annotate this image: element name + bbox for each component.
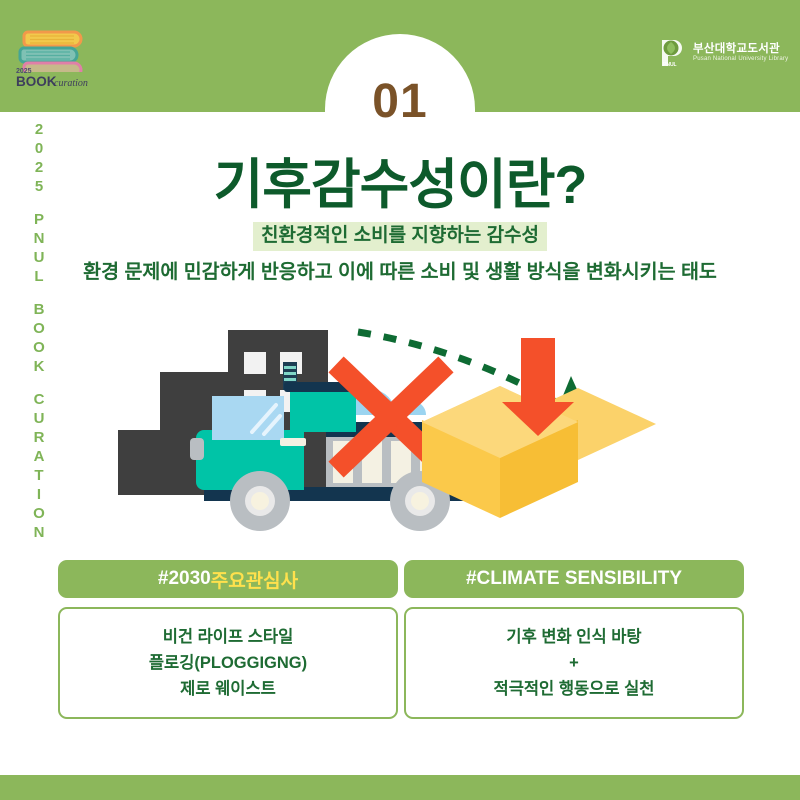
- panel-body: 기후 변화 인식 바탕 + 적극적인 행동으로 실천: [404, 607, 744, 719]
- bottom-green-band: [0, 775, 800, 800]
- logo-word-book: BOOK: [16, 74, 57, 89]
- logo-word-curation: curation: [54, 78, 88, 89]
- svg-text:PNUL: PNUL: [663, 62, 677, 68]
- panel-header: #2030 주요관심사: [58, 560, 398, 598]
- subtitle-highlight-wrap: 친환경적인 소비를 지향하는 감수성: [0, 222, 800, 251]
- panel-line: 플로깅(PLOGGIGNG): [149, 652, 307, 674]
- panel-2030-interests: #2030 주요관심사 비건 라이프 스타일 플로깅(PLOGGIGNG) 제로…: [58, 560, 398, 719]
- panel-line: 제로 웨이스트: [180, 678, 276, 700]
- panel-header-highlight: 주요관심사: [211, 566, 298, 593]
- panel-header: #CLIMATE SENSIBILITY: [404, 560, 744, 598]
- panel-header-prefix: #2030: [158, 568, 211, 590]
- step-number: 01: [325, 78, 475, 126]
- university-library-logo: PNUL 부산대학교도서관 Pusan National University …: [658, 36, 788, 70]
- panel-climate-sensibility: #CLIMATE SENSIBILITY 기후 변화 인식 바탕 + 적극적인 …: [404, 560, 744, 719]
- panel-body: 비건 라이프 스타일 플로깅(PLOGGIGNG) 제로 웨이스트: [58, 607, 398, 719]
- vertical-word-curation: CURATION: [33, 392, 45, 544]
- panel-line: 적극적인 행동으로 실천: [494, 678, 655, 700]
- panel-line: 기후 변화 인식 바탕: [506, 626, 641, 648]
- university-name-english: Pusan National University Library: [693, 56, 788, 63]
- subtitle-description: 환경 문제에 민감하게 반응하고 이에 따른 소비 및 생활 방식을 변화시키는…: [0, 255, 800, 284]
- subtitle-highlighted: 친환경적인 소비를 지향하는 감수성: [253, 222, 547, 251]
- infographic-card: 2025 BOOK curation PNUL 부산대학교도서관 Pusan N…: [0, 0, 800, 800]
- pnu-tree-p-icon: PNUL: [658, 38, 686, 68]
- book-curation-logo-text: 2025 BOOK curation: [14, 64, 106, 90]
- panel-header-plain: #CLIMATE SENSIBILITY: [466, 568, 682, 590]
- panel-line: +: [569, 652, 579, 674]
- vertical-word-book: BOOK: [33, 302, 45, 378]
- page-title: 기후감수성이란?: [0, 140, 800, 219]
- panel-line: 비건 라이프 스타일: [163, 626, 294, 648]
- university-name-korean: 부산대학교도서관: [693, 43, 788, 56]
- delivery-truck-rejected-to-box-illustration: [100, 310, 720, 540]
